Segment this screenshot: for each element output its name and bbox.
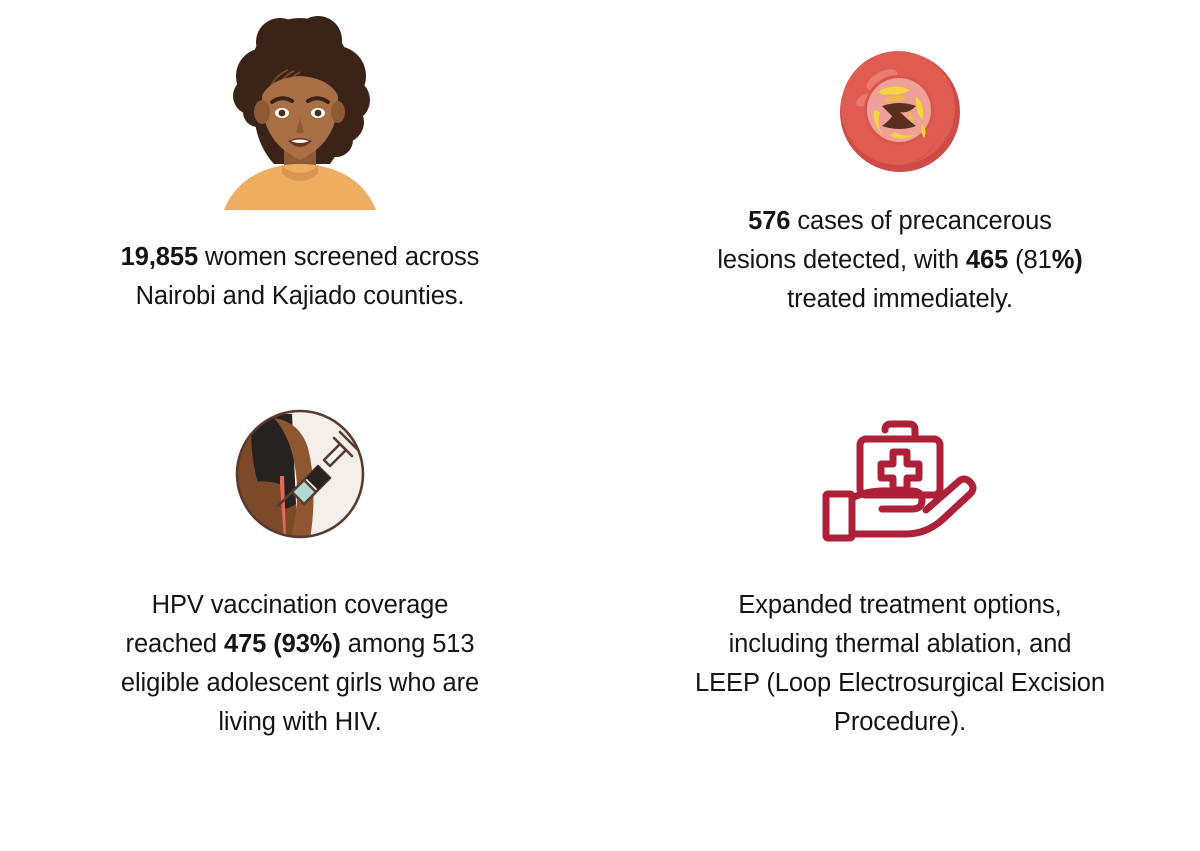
caption-text-cases-c: treated immediately.	[787, 285, 1013, 313]
hand-holding-first-aid-kit-icon	[815, 406, 985, 542]
vaccination-syringe-svg	[234, 408, 366, 540]
woman-avatar-svg	[212, 14, 388, 210]
caption-screening: 19,855 women screened across Nairobi and…	[110, 238, 490, 316]
woman-avatar-illustration	[210, 14, 390, 210]
stat-card-expanded-treatment: Expanded treatment options, including th…	[600, 390, 1200, 790]
stat-value-cases: 576	[748, 207, 790, 235]
vaccination-syringe-illustration	[232, 404, 368, 540]
caption-hpv-vaccination: HPV vaccination coverage reached 475 (93…	[109, 586, 491, 742]
cervix-lesion-svg	[838, 50, 962, 174]
stat-value-screened: 19,855	[121, 243, 198, 271]
infographic-root: 19,855 women screened across Nairobi and…	[0, 0, 1200, 851]
stat-value-vaccinated: 475 (93%)	[224, 630, 341, 658]
caption-precancerous-lesions: 576 cases of precancerous lesions detect…	[710, 202, 1090, 319]
caption-expanded-treatment: Expanded treatment options, including th…	[694, 586, 1106, 742]
hand-first-aid-kit-svg	[820, 412, 980, 542]
caption-text-treatment: Expanded treatment options, including th…	[695, 591, 1105, 736]
cervix-lesion-illustration	[835, 44, 965, 174]
stats-grid: 19,855 women screened across Nairobi and…	[0, 0, 1200, 851]
stat-card-hpv-vaccination: HPV vaccination coverage reached 475 (93…	[0, 390, 600, 790]
stat-card-screening: 19,855 women screened across Nairobi and…	[0, 0, 600, 390]
stat-card-precancerous-lesions: 576 cases of precancerous lesions detect…	[600, 0, 1200, 390]
stat-percent-treated: %)	[1052, 246, 1083, 274]
stat-value-treated: 465	[966, 246, 1008, 274]
caption-text-cases-b: (81	[1008, 246, 1052, 274]
